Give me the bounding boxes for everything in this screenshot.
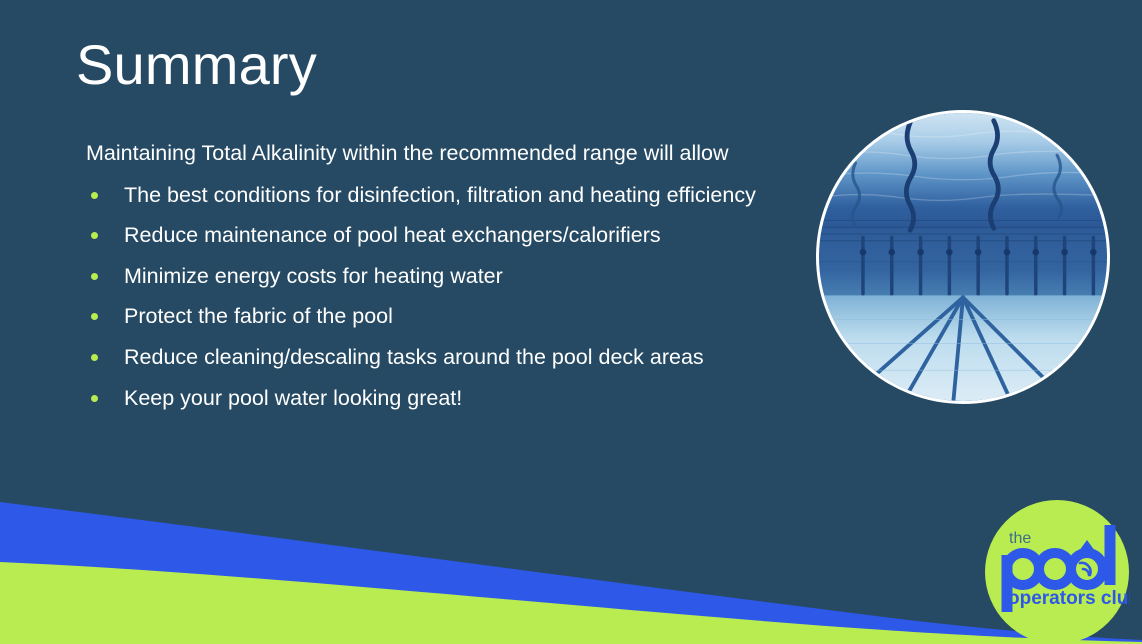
logo-the-text: the — [1009, 530, 1031, 547]
list-item: The best conditions for disinfection, fi… — [86, 182, 802, 210]
list-item-label: Reduce maintenance of pool heat exchange… — [124, 223, 661, 247]
list-item-label: Minimize energy costs for heating water — [124, 264, 503, 288]
logo-tagline-text: operators club — [1008, 588, 1130, 609]
bullet-dot-icon — [91, 232, 98, 239]
body-content: Maintaining Total Alkalinity within the … — [86, 140, 802, 412]
list-item-label: The best conditions for disinfection, fi… — [124, 183, 756, 207]
bullet-dot-icon — [91, 192, 98, 199]
pool-photo — [816, 110, 1110, 404]
slide: Summary Maintaining Total Alkalinity wit… — [0, 0, 1142, 644]
list-item-label: Reduce cleaning/descaling tasks around t… — [124, 345, 704, 369]
wave-decoration — [0, 464, 1142, 644]
list-item: Reduce cleaning/descaling tasks around t… — [86, 344, 802, 372]
brand-logo: the operators club — [984, 499, 1130, 644]
list-item: Protect the fabric of the pool — [86, 303, 802, 331]
bullet-dot-icon — [91, 395, 98, 402]
intro-paragraph: Maintaining Total Alkalinity within the … — [86, 140, 802, 168]
benefits-list: The best conditions for disinfection, fi… — [86, 182, 802, 412]
list-item: Minimize energy costs for heating water — [86, 263, 802, 291]
list-item-label: Protect the fabric of the pool — [124, 304, 393, 328]
bullet-dot-icon — [91, 273, 98, 280]
bullet-dot-icon — [91, 354, 98, 361]
pool-photo-image — [819, 113, 1107, 401]
list-item: Keep your pool water looking great! — [86, 385, 802, 413]
bullet-dot-icon — [91, 313, 98, 320]
page-title: Summary — [76, 34, 317, 96]
list-item-label: Keep your pool water looking great! — [124, 386, 462, 410]
list-item: Reduce maintenance of pool heat exchange… — [86, 222, 802, 250]
